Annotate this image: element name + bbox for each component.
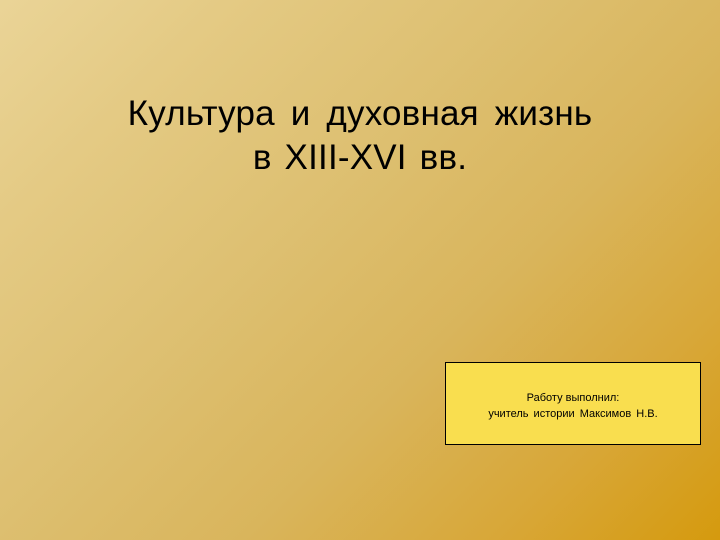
author-credit-line-2: учитель истории Максимов Н.В. [446, 406, 700, 422]
slide-title: Культура и духовная жизнь в XIII-XVI вв. [52, 92, 668, 180]
author-credit-box: Работу выполнил: учитель истории Максимо… [445, 362, 701, 445]
author-credit-line-1: Работу выполнил: [446, 390, 700, 406]
presentation-slide: Культура и духовная жизнь в XIII-XVI вв.… [0, 0, 720, 540]
slide-title-line-1: Культура и духовная жизнь [52, 92, 668, 136]
author-credit-text: Работу выполнил: учитель истории Максимо… [446, 390, 700, 422]
slide-title-line-2: в XIII-XVI вв. [52, 136, 668, 180]
